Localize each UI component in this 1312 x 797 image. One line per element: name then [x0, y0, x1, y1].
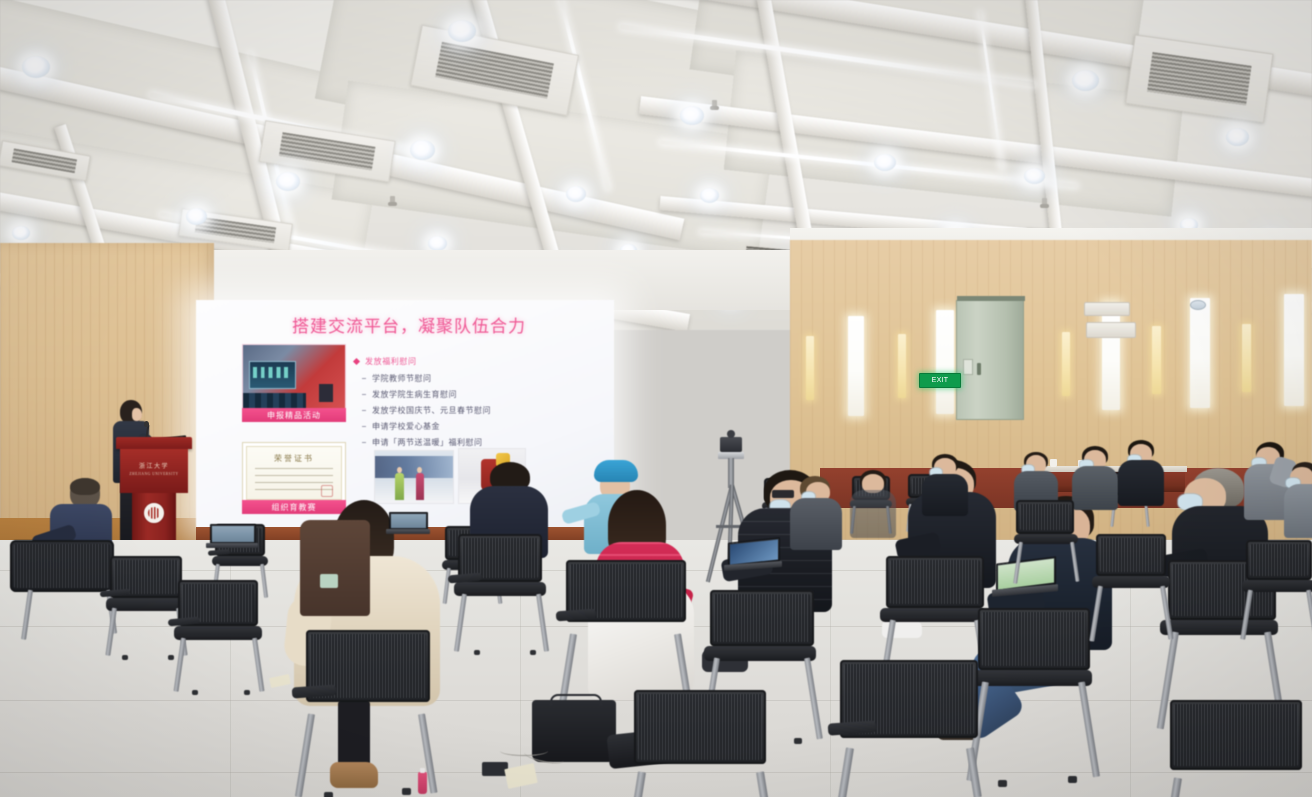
- chair-leg: [966, 747, 982, 797]
- slide-photo-inner-chart: [253, 367, 292, 378]
- wall-control-panel[interactable]: [1086, 322, 1136, 338]
- attendee-top: [1284, 484, 1312, 538]
- ceiling-downlight: [410, 140, 435, 160]
- dash-bullet-icon: [362, 410, 366, 411]
- chair-leg: [756, 771, 770, 797]
- chair-back: [1016, 500, 1074, 534]
- chair-leg: [1089, 586, 1103, 642]
- chair-foot: [122, 655, 128, 660]
- podium-front-face: 浙江大学 ZHEJIANG UNIVERSITY: [120, 449, 188, 493]
- attendee-top: [922, 474, 968, 516]
- chair-foot: [402, 788, 411, 795]
- attendee-top: [1118, 460, 1164, 506]
- sprinkler-head: [712, 100, 717, 109]
- attendee: [848, 470, 902, 544]
- dash-bullet-icon: [362, 378, 366, 379]
- video-camera-icon: [720, 437, 742, 452]
- chair-back: [1170, 700, 1302, 770]
- ceiling-downlight: [12, 226, 30, 240]
- attendee: [918, 454, 972, 520]
- wall-light-panel: [1190, 298, 1210, 408]
- laptop[interactable]: [206, 524, 258, 548]
- ceiling-downlight: [874, 154, 896, 171]
- chair-seat: [704, 646, 816, 661]
- conference-hall-photo: EXIT 搭建交流平台，凝聚队伍合力 申报精品活动 荣誉证书 组织育教赛 发放福…: [0, 0, 1312, 797]
- slide-bullet-item: 发放学校国庆节、元旦春节慰问: [362, 405, 564, 416]
- door-header: [957, 296, 1025, 301]
- ceiling-downlight: [1226, 128, 1249, 146]
- ceiling-downlight: [276, 172, 300, 191]
- chair[interactable]: [452, 534, 552, 656]
- door-plate: [963, 359, 973, 375]
- attendee: [786, 476, 846, 558]
- slide-photo-children: [374, 450, 454, 504]
- slide-bullet-item: 申请「两节送温暖」福利慰问: [362, 437, 564, 448]
- dash-bullet-icon: [362, 426, 366, 427]
- ceiling-downlight: [700, 188, 719, 203]
- certificate-seal: [321, 485, 333, 497]
- slide-bullet-item: 学院教师节慰问: [362, 373, 564, 384]
- slide-photo-figure: [416, 473, 425, 500]
- chair-back: [886, 556, 984, 608]
- chair-foot: [474, 650, 480, 655]
- chair-leg: [1013, 542, 1023, 584]
- ceiling-downlight: [22, 56, 50, 78]
- slide-bullet-heading-text: 发放福利慰问: [365, 356, 417, 367]
- wall-light-panel: [848, 316, 864, 416]
- blue-beret: [594, 460, 638, 482]
- certificate-title: 荣誉证书: [243, 453, 345, 464]
- chair-back: [1246, 540, 1312, 580]
- slide-bullet-heading: 发放福利慰问: [354, 356, 564, 367]
- chair-foot: [324, 792, 333, 797]
- laptop-screen: [212, 526, 254, 542]
- chair-back: [634, 690, 766, 764]
- chair[interactable]: [1240, 540, 1312, 644]
- chair-foot: [192, 690, 198, 695]
- chair-leg: [295, 713, 315, 797]
- chair-back: [978, 608, 1090, 670]
- attendee-hair: [70, 478, 100, 495]
- dash-bullet-icon: [362, 394, 366, 395]
- slide-bullet-list: 发放福利慰问 学院教师节慰问 发放学院生病生育慰问 发放学校国庆节、元旦春节慰问…: [354, 356, 564, 453]
- podium-top: [116, 437, 192, 449]
- ceiling-downlight: [566, 186, 586, 202]
- dash-bullet-icon: [362, 442, 366, 443]
- ceiling-downlight: [1024, 168, 1045, 184]
- slide-caption-1: 申报精品活动: [242, 408, 346, 422]
- chair-leg: [1306, 590, 1312, 638]
- chair-leg: [804, 658, 823, 740]
- door-handle[interactable]: [977, 363, 981, 375]
- exit-sign-label: EXIT: [932, 377, 949, 384]
- microphone-head: [144, 421, 149, 427]
- chair[interactable]: [620, 690, 780, 797]
- podium-name-en: ZHEJIANG UNIVERSITY: [120, 473, 188, 477]
- chair-back: [1096, 534, 1166, 576]
- ceiling-downlight: [448, 20, 476, 42]
- water-bottle[interactable]: [418, 772, 427, 794]
- draped-coat: [300, 520, 370, 616]
- wall-control-panel[interactable]: [1084, 302, 1130, 316]
- wall-light-panel: [1242, 324, 1251, 392]
- diamond-bullet-icon: [353, 358, 360, 365]
- wall-light-panel: [898, 334, 906, 398]
- chair-leg: [105, 608, 117, 656]
- chair-foot: [1068, 776, 1077, 783]
- exit-door[interactable]: [956, 300, 1024, 420]
- laptop[interactable]: [386, 512, 430, 534]
- laptop-base: [206, 543, 258, 548]
- laptop-base: [386, 529, 430, 534]
- chair[interactable]: [824, 660, 994, 797]
- university-seal-icon: [144, 503, 164, 523]
- chair-leg: [632, 771, 646, 797]
- chair-foot: [998, 780, 1007, 787]
- chair-seat: [1092, 576, 1170, 588]
- slide-certificate: 荣誉证书: [242, 442, 346, 504]
- attendee-top: [850, 490, 896, 538]
- wall-light-panel: [1152, 326, 1161, 394]
- wall-light-panel: [936, 310, 954, 414]
- slide-photo-event: [242, 344, 346, 414]
- slide-bullet-item: 申请学校爱心基金: [362, 421, 564, 432]
- chair[interactable]: [1012, 500, 1082, 588]
- chair[interactable]: [172, 580, 268, 696]
- attendee-top: [790, 498, 842, 550]
- chair-leg: [536, 594, 549, 652]
- ceiling-downlight: [680, 106, 704, 125]
- chair-back: [10, 540, 114, 592]
- chair-leg: [1078, 681, 1100, 777]
- chair-leg: [1169, 777, 1182, 797]
- presenter-face: [132, 408, 142, 421]
- chair-leg: [1070, 542, 1080, 582]
- sprinkler-head: [1042, 198, 1047, 207]
- exit-sign: EXIT: [919, 373, 961, 388]
- wall-light-panel: [806, 336, 814, 400]
- chair-leg: [1240, 590, 1253, 640]
- ceiling-downlight: [428, 236, 447, 251]
- chair-foot: [794, 738, 802, 744]
- chair-leg: [454, 594, 467, 652]
- slide-title: 搭建交流平台，凝聚队伍合力: [244, 312, 574, 337]
- chair-seat: [1014, 534, 1078, 544]
- chair[interactable]: [1156, 700, 1312, 797]
- ceiling-downlight: [186, 208, 207, 225]
- chair-foot: [244, 690, 250, 695]
- slide-photo-figure: [395, 473, 404, 500]
- sprinkler-head: [390, 196, 395, 205]
- wall-light-panel: [1062, 332, 1070, 396]
- chair-seat: [454, 582, 546, 596]
- chair-foot: [530, 650, 536, 655]
- coat-tag: [320, 574, 338, 588]
- laptop[interactable]: [724, 540, 782, 570]
- wall-light-panel: [1284, 294, 1304, 406]
- chair[interactable]: [1090, 534, 1176, 646]
- chair-leg: [174, 638, 186, 692]
- chair-leg: [1160, 586, 1173, 640]
- slide-photo-inner-podium: [319, 384, 333, 402]
- chair-leg: [838, 747, 854, 797]
- slide-bullet-item: 发放学院生病生育慰问: [362, 389, 564, 400]
- laptop-lid: [389, 512, 428, 530]
- wall-light-panel: [1102, 302, 1120, 410]
- laptop-lid: [210, 524, 256, 544]
- chair-seat: [174, 626, 262, 640]
- wall-speaker: [1190, 300, 1206, 310]
- chair-leg: [252, 638, 264, 692]
- ceiling-downlight: [1072, 70, 1099, 91]
- attendee: [1112, 440, 1168, 510]
- podium-name-cn: 浙江大学: [120, 464, 188, 470]
- attendee: [1284, 462, 1312, 542]
- laptop-screen: [391, 514, 426, 528]
- slide-photo-band: [375, 456, 453, 478]
- chair-back: [710, 590, 814, 646]
